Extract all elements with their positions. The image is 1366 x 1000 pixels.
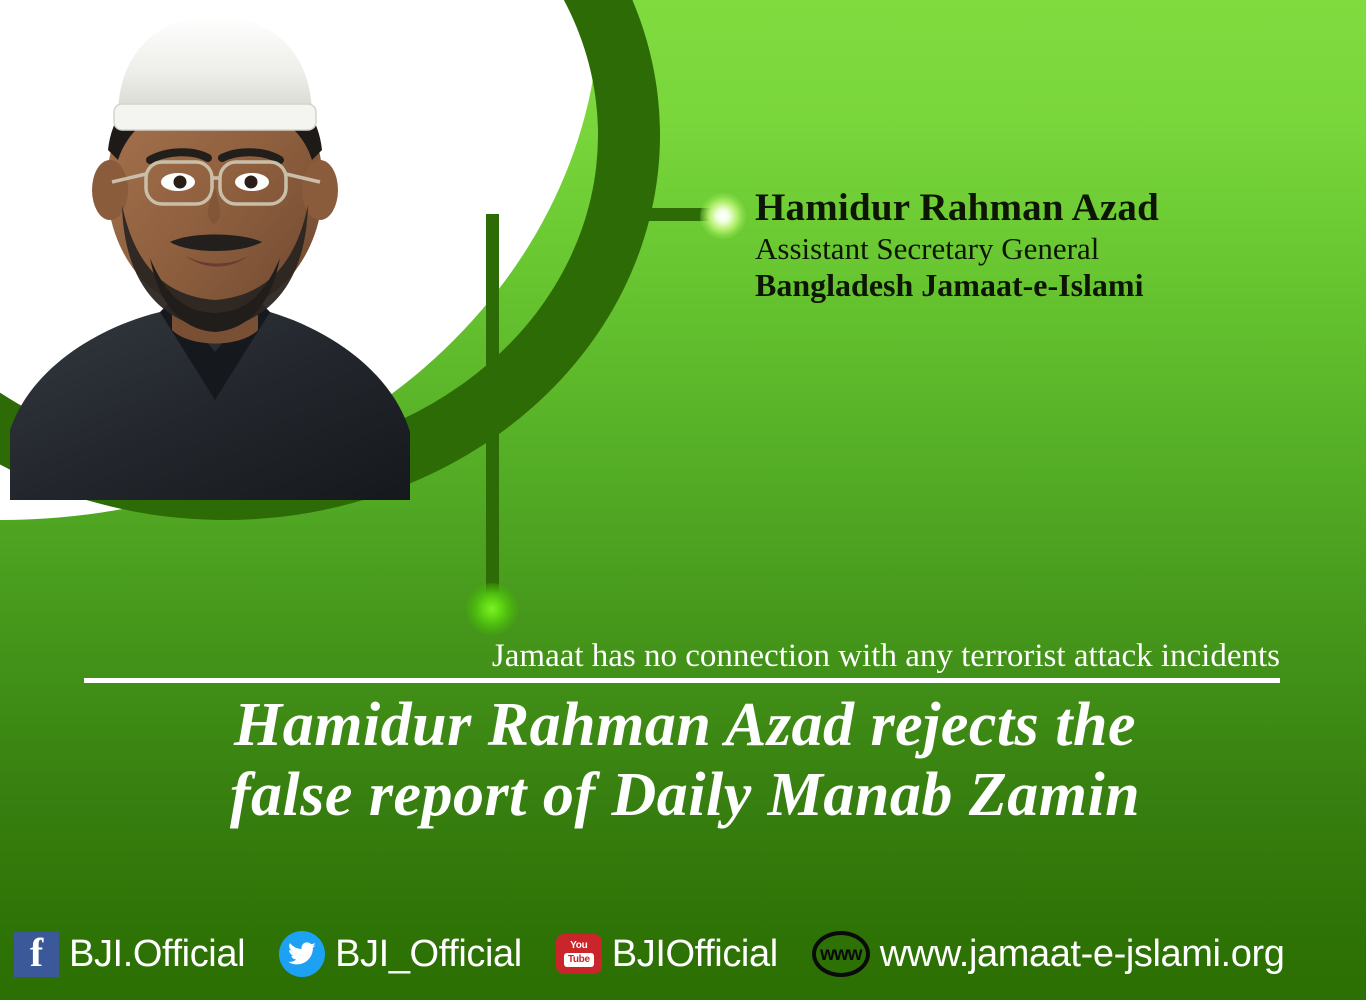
connector-line-vertical bbox=[486, 214, 499, 599]
social-footer-bar: BJI.Official BJI_Official You Tube BJIOf… bbox=[0, 908, 1366, 1000]
www-icon: www bbox=[812, 931, 870, 977]
youtube-icon: You Tube bbox=[556, 934, 602, 974]
headline-line-1: Hamidur Rahman Azad rejects the bbox=[60, 690, 1310, 760]
youtube-badge-bottom: Tube bbox=[564, 953, 594, 967]
speaker-name-block: Hamidur Rahman Azad Assistant Secretary … bbox=[755, 188, 1159, 304]
facebook-handle: BJI.Official bbox=[69, 935, 245, 973]
www-label: www bbox=[820, 945, 861, 964]
youtube-badge-top: You bbox=[570, 941, 587, 951]
social-item-facebook[interactable]: BJI.Official bbox=[14, 932, 245, 977]
kicker-text: Jamaat has no connection with any terror… bbox=[84, 639, 1280, 674]
facebook-icon bbox=[14, 932, 59, 977]
twitter-icon bbox=[279, 931, 325, 977]
youtube-handle: BJIOfficial bbox=[612, 935, 778, 973]
website-url: www.jamaat-e-jslami.org bbox=[880, 935, 1285, 973]
connector-line-horizontal bbox=[588, 208, 723, 221]
speaker-portrait bbox=[0, 0, 420, 500]
twitter-handle: BJI_Official bbox=[335, 935, 522, 973]
social-item-website[interactable]: www www.jamaat-e-jslami.org bbox=[812, 931, 1285, 977]
social-item-twitter[interactable]: BJI_Official bbox=[279, 931, 522, 977]
speaker-role: Assistant Secretary General bbox=[755, 231, 1159, 266]
social-item-youtube[interactable]: You Tube BJIOfficial bbox=[556, 934, 778, 974]
horizontal-rule bbox=[84, 678, 1280, 683]
speaker-name: Hamidur Rahman Azad bbox=[755, 188, 1159, 229]
headline-line-2: false report of Daily Manab Zamin bbox=[60, 760, 1310, 830]
speaker-organization: Bangladesh Jamaat-e-Islami bbox=[755, 268, 1159, 304]
poster-canvas: Hamidur Rahman Azad Assistant Secretary … bbox=[0, 0, 1366, 1000]
headline: Hamidur Rahman Azad rejects the false re… bbox=[60, 690, 1310, 830]
